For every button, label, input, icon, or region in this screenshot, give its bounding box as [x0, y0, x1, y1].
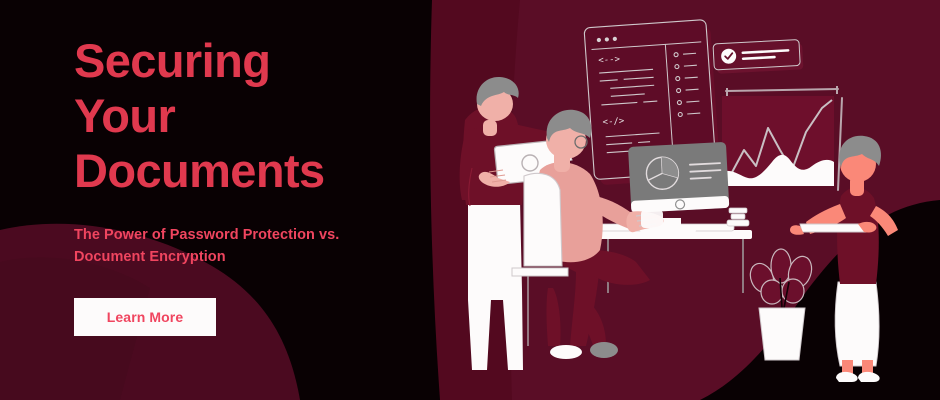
- page-title: SecuringYourDocuments: [74, 33, 404, 198]
- subtitle-line-1: The Power of Password Protection vs.: [74, 227, 339, 243]
- logo-tagline: Trust without Boundaries: [118, 0, 191, 10]
- potted-plant: [746, 249, 815, 360]
- hero-content: Trust without Boundaries SecuringYourDoc…: [74, 0, 414, 400]
- checkmark-swoosh-icon: [68, 0, 112, 10]
- svg-text:<-->: <-->: [598, 55, 621, 67]
- learn-more-button[interactable]: Learn More: [74, 298, 216, 336]
- logo[interactable]: Trust without Boundaries: [68, 0, 191, 10]
- headline-line-1: Securing: [74, 34, 270, 87]
- hero-banner: <--> <-/>: [0, 0, 940, 400]
- line-chart-board: [722, 86, 842, 190]
- subtitle-line-2: Document Encryption: [74, 249, 226, 265]
- headline-line-3: Documents: [74, 144, 325, 197]
- headline-line-2: Your: [74, 89, 175, 142]
- page-subtitle: The Power of Password Protection vs.Docu…: [74, 224, 389, 268]
- svg-text:<-/>: <-/>: [602, 116, 625, 128]
- checkmark-card: [713, 39, 803, 74]
- cup-stack: [727, 208, 749, 226]
